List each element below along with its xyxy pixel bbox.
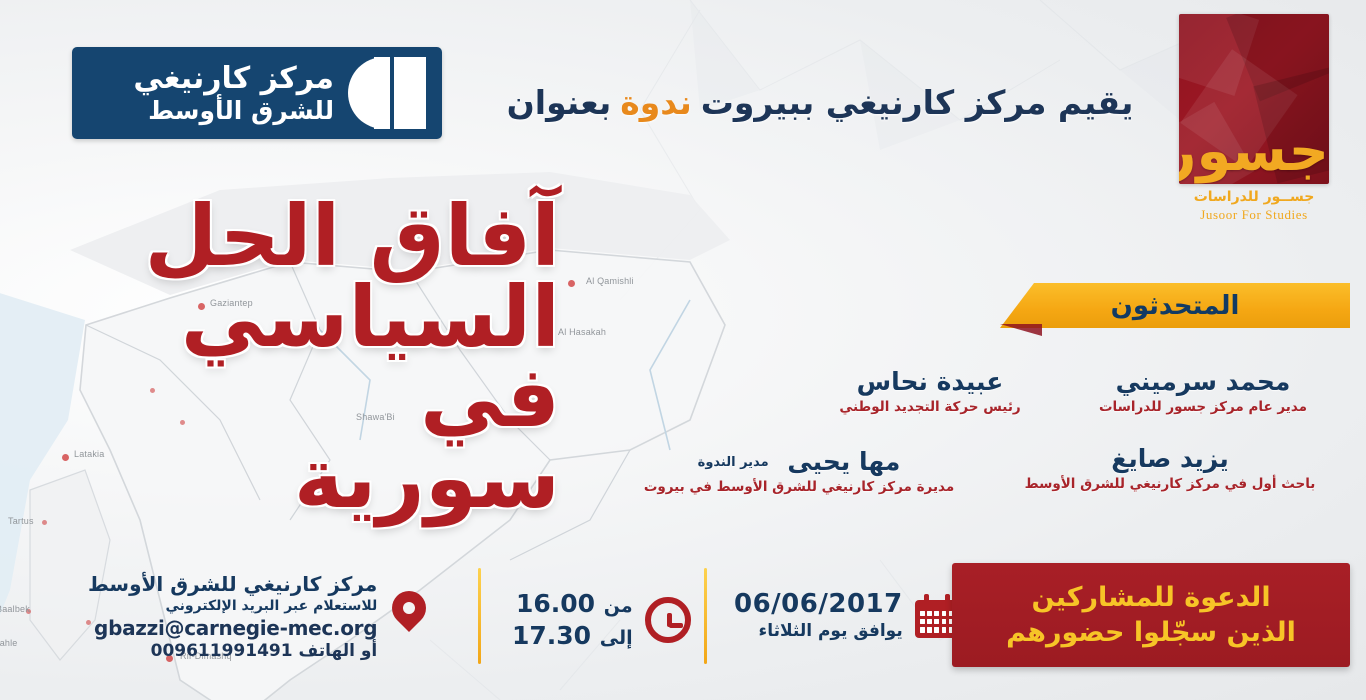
time-text: من 16.00 إلى 17.30 — [512, 588, 633, 652]
date-value: 06/06/2017 — [734, 588, 903, 621]
map-dot — [26, 609, 31, 614]
event-poster: Al Qamishli Al Hasakah Gaziantep Nizip S… — [0, 0, 1366, 700]
contact-phone: أو الهاتف 009611991491 — [88, 641, 377, 663]
registration-line2: الذين سجّلوا حضورهم — [1006, 615, 1296, 650]
speaker-name: يزيد صايغ — [990, 445, 1350, 473]
map-label: Al Hasakah — [558, 327, 606, 337]
speaker-card-1: محمد سرميني مدير عام مركز جسور للدراسات — [1058, 368, 1348, 415]
location-pin-icon — [389, 591, 429, 643]
poster-title-line2: السياسي في — [110, 277, 560, 438]
map-dot — [568, 280, 575, 287]
speaker-name: محمد سرميني — [1058, 368, 1348, 396]
time-block: من 16.00 إلى 17.30 — [512, 588, 691, 652]
contact-email[interactable]: gbazzi@carnegie-mec.org — [88, 616, 377, 642]
jusoor-caption-ar: جســور للدراسات — [1194, 189, 1315, 207]
contact-org: مركز كارنيغي للشرق الأوسط — [88, 572, 377, 598]
time-to: إلى 17.30 — [512, 620, 633, 652]
speaker-name-text: مها يحيى — [787, 447, 900, 476]
time-to-value: 17.30 — [512, 621, 591, 650]
speaker-name: مها يحيى مدير الندوة — [614, 448, 984, 476]
time-from-label: من — [604, 595, 633, 617]
map-label: Tartus — [8, 516, 34, 526]
time-to-label: إلى — [600, 627, 633, 649]
poster-title: آفاق الحل السياسي في سورية — [110, 196, 560, 519]
speaker-card-3: يزيد صايغ باحث أول في مركز كارنيغي للشرق… — [990, 445, 1350, 492]
jusoor-caption: جســور للدراسات Jusoor For Studies — [1194, 189, 1315, 223]
speaker-card-2: عبيدة نحاس رئيس حركة التجديد الوطني — [790, 368, 1070, 415]
divider-left — [478, 568, 481, 664]
date-day-note: يوافق يوم الثلاثاء — [734, 621, 903, 643]
speaker-title: رئيس حركة التجديد الوطني — [790, 399, 1070, 415]
jusoor-logo-mark-icon: جسور — [1179, 14, 1329, 184]
date-text: 06/06/2017 يوافق يوم الثلاثاء — [734, 588, 903, 643]
clock-icon — [645, 597, 691, 643]
carnegie-logo-line1: مركز كارنيغي — [88, 61, 334, 96]
jusoor-caption-en: Jusoor For Studies — [1194, 207, 1315, 223]
header-suffix: بعنوان — [507, 83, 612, 122]
carnegie-circle-mark-icon — [348, 57, 426, 129]
speaker-title: مديرة مركز كارنيغي للشرق الأوسط في بيروت — [614, 479, 984, 495]
speaker-title: باحث أول في مركز كارنيغي للشرق الأوسط — [990, 476, 1350, 492]
moderator-role-tag: مدير الندوة — [698, 455, 769, 470]
map-label: Zahle — [0, 638, 18, 648]
header-announcement: يقيم مركز كارنيغي ببيروت ندوة بعنوان — [470, 72, 1170, 132]
map-dot — [42, 520, 47, 525]
map-dot — [62, 454, 69, 461]
speakers-banner-label: المتحدثون — [1000, 283, 1350, 328]
header-prefix: يقيم مركز كارنيغي ببيروت — [701, 83, 1134, 122]
date-block: 06/06/2017 يوافق يوم الثلاثاء — [734, 588, 959, 643]
speaker-name: عبيدة نحاس — [790, 368, 1070, 396]
jusoor-logo: جسور جســور للدراسات Jusoor For Studies — [1168, 14, 1340, 246]
map-label: Baalbek — [0, 604, 30, 614]
map-label: Al Qamishli — [586, 276, 634, 286]
header-accent-word: ندوة — [620, 83, 691, 122]
registration-line1: الدعوة للمشاركين — [1031, 580, 1270, 615]
divider-right — [704, 568, 707, 664]
speakers-banner: المتحدثون — [1000, 283, 1350, 328]
speaker-card-4: مها يحيى مدير الندوة مديرة مركز كارنيغي … — [614, 448, 984, 495]
map-label: Latakia — [74, 449, 104, 459]
contact-text: مركز كارنيغي للشرق الأوسط للاستعلام عبر … — [88, 572, 377, 663]
poster-title-line3: سورية — [110, 438, 560, 519]
contact-note: للاستعلام عبر البريد الإلكتروني — [88, 598, 377, 616]
carnegie-logo: مركز كارنيغي للشرق الأوسط — [72, 47, 442, 139]
carnegie-logo-line2: للشرق الأوسط — [88, 96, 334, 126]
carnegie-logo-text: مركز كارنيغي للشرق الأوسط — [88, 61, 334, 126]
jusoor-script-text: جسور — [1179, 124, 1329, 180]
speaker-title: مدير عام مركز جسور للدراسات — [1058, 399, 1348, 415]
contact-block: مركز كارنيغي للشرق الأوسط للاستعلام عبر … — [88, 572, 429, 663]
time-from: من 16.00 — [512, 588, 633, 620]
registration-banner: الدعوة للمشاركين الذين سجّلوا حضورهم — [952, 563, 1350, 667]
poster-title-line1: آفاق الحل — [110, 196, 560, 277]
time-from-value: 16.00 — [516, 589, 595, 618]
